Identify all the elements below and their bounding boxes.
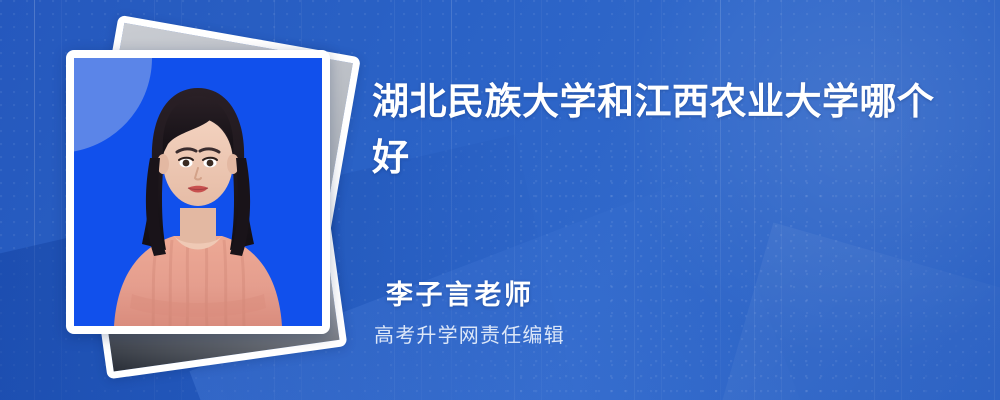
article-header-banner: 湖北民族大学和江西农业大学哪个好 李子言老师 高考升学网责任编辑 [0,0,1000,400]
author-photo-frame [66,50,330,334]
author-role: 高考升学网责任编辑 [374,319,565,348]
background-accent-line-left [34,0,35,400]
text-column: 湖北民族大学和江西农业大学哪个好 李子言老师 高考升学网责任编辑 [372,0,972,400]
author-name: 李子言老师 [386,273,534,312]
portrait-illustration [74,58,322,326]
author-photo [74,58,322,326]
page-title: 湖北民族大学和江西农业大学哪个好 [372,74,960,186]
photo-stack [58,32,348,352]
